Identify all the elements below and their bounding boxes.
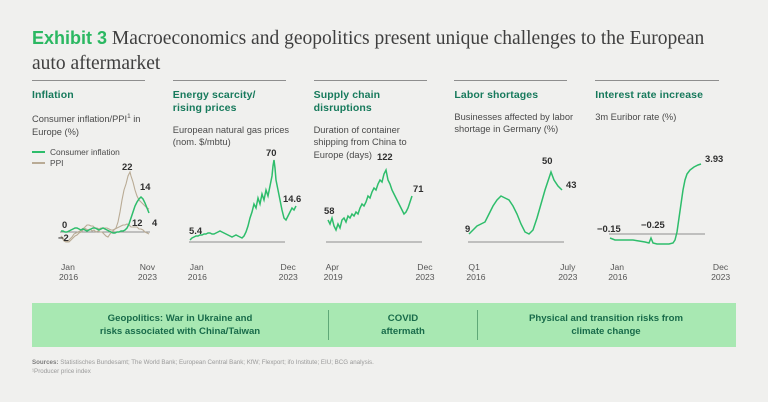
chart-labor-shortages: 9 50 43	[454, 146, 599, 256]
panel-subtitle-main: Consumer inflation/PPI	[32, 114, 127, 124]
panel-rule	[595, 80, 719, 81]
annotation-14: 14	[140, 181, 151, 192]
annotation-5-4: 5.4	[189, 225, 203, 236]
annotation-71: 71	[413, 183, 423, 194]
annotation-50: 50	[542, 155, 552, 166]
panel-labor-shortages: Labor shortages Businesses affected by l…	[454, 80, 595, 290]
x-axis-end-top: Dec	[281, 262, 296, 273]
x-axis-end-bottom: 2023	[711, 272, 730, 283]
banner-line1: COVID	[381, 312, 425, 325]
sources-text: Statistisches Bundesamt; The World Bank;…	[58, 359, 373, 366]
x-axis-start-bottom: 2016	[59, 272, 78, 283]
banner-line2: aftermath	[381, 325, 425, 338]
banner-line1: Physical and transition risks from	[529, 312, 683, 325]
x-axis-start-top: Jan	[190, 262, 204, 273]
x-axis-start-top: Jan	[610, 262, 624, 273]
annotation-14-6: 14.6	[283, 193, 301, 204]
x-axis-start-top: Q1	[468, 262, 479, 273]
x-axis-end-top: Nov	[140, 262, 155, 273]
annotation-22: 22	[122, 161, 132, 172]
banner-line2: climate change	[529, 325, 683, 338]
shipping-duration-line	[328, 170, 412, 230]
exhibit-label: Exhibit 3	[32, 28, 107, 48]
x-axis: Q1 2016 July 2023	[454, 260, 599, 290]
annotation-4: 4	[152, 217, 158, 228]
panel-title: Inflation	[32, 89, 173, 102]
annotation-12: 12	[132, 217, 142, 228]
x-axis-end-top: July	[560, 262, 575, 273]
panel-subtitle: Businesses affected by labor shortage in…	[454, 111, 574, 136]
x-axis-start-bottom: 2016	[608, 272, 627, 283]
chart-supply-chain: 58 122 71	[314, 146, 459, 256]
x-axis: Jan 2016 Nov 2023	[32, 260, 177, 290]
chart-svg: 9 50 43	[454, 146, 599, 256]
annotation-70: 70	[266, 147, 276, 158]
banner-line1: Geopolitics: War in Ukraine and	[100, 312, 260, 325]
x-axis: Jan 2016 Dec 2023	[595, 260, 740, 290]
x-axis-start-top: Jan	[61, 262, 75, 273]
chart-svg: −0.15 −0.25 3.93	[595, 146, 740, 256]
exhibit-sheet: Exhibit 3 Macroeconomics and geopolitics…	[0, 0, 768, 402]
panel-inflation: Inflation Consumer inflation/PPI1 in Eur…	[32, 80, 173, 290]
x-axis-end-top: Dec	[713, 262, 728, 273]
gas-price-line	[190, 160, 296, 240]
x-axis: Jan 2016 Dec 2023	[173, 260, 318, 290]
panel-rule	[173, 80, 286, 81]
x-axis-start-bottom: 2016	[466, 272, 485, 283]
x-axis-end-bottom: 2023	[138, 272, 157, 283]
sources-line: Sources: Statistisches Bundesamt; The Wo…	[32, 358, 732, 367]
panel-supply-chain: Supply chain disruptions Duration of con…	[314, 80, 455, 290]
labor-shortage-line	[469, 172, 562, 234]
x-axis-end-bottom: 2023	[415, 272, 434, 283]
chart-svg: 58 122 71	[314, 146, 459, 256]
x-axis-start-bottom: 2016	[188, 272, 207, 283]
panel-title: Supply chain disruptions	[314, 89, 455, 115]
panel-interest-rate: Interest rate increase 3m Euribor rate (…	[595, 80, 736, 290]
annotation-minus015: −0.15	[597, 223, 621, 234]
page-title: Exhibit 3 Macroeconomics and geopolitics…	[32, 26, 732, 76]
panel-subtitle: Consumer inflation/PPI1 in Europe (%)	[32, 111, 152, 138]
chart-energy: 5.4 70 14.6	[173, 146, 318, 256]
chart-inflation: 0 −2 22 14 12 4	[32, 146, 177, 256]
chart-svg: 0 −2 22 14 12 4	[32, 146, 177, 256]
panel-title: Interest rate increase	[595, 89, 736, 102]
x-axis-end-bottom: 2023	[558, 272, 577, 283]
banner-line2: risks associated with China/Taiwan	[100, 325, 260, 338]
sources-note: Sources: Statistisches Bundesamt; The Wo…	[32, 358, 732, 376]
panel-rule	[454, 80, 567, 81]
annotation-393: 3.93	[705, 153, 723, 164]
headline-text: Macroeconomics and geopolitics present u…	[32, 28, 704, 74]
chart-svg: 5.4 70 14.6	[173, 146, 318, 256]
annotation-minus025: −0.25	[641, 219, 665, 230]
x-axis-start-top: Apr	[326, 262, 339, 273]
x-axis-end-top: Dec	[417, 262, 432, 273]
panel-title: Energy scarcity/ rising prices	[173, 89, 314, 115]
panel-subtitle: 3m Euribor rate (%)	[595, 111, 715, 123]
panel-title-line1: Supply chain	[314, 89, 455, 102]
annotation-43: 43	[566, 179, 576, 190]
euribor-line	[610, 164, 701, 244]
banner-item-geopolitics: Geopolitics: War in Ukraine and risks as…	[32, 310, 328, 340]
annotation-minus2: −2	[58, 232, 69, 243]
footnote-line: ¹Producer price index	[32, 367, 732, 376]
x-axis: Apr 2019 Dec 2023	[314, 260, 459, 290]
annotation-122: 122	[377, 151, 393, 162]
panel-title-line1: Energy scarcity/	[173, 89, 314, 102]
annotation-9: 9	[465, 223, 470, 234]
panel-title-line2: rising prices	[173, 102, 314, 115]
banner-item-covid: COVID aftermath	[329, 310, 477, 340]
panel-rule	[314, 80, 427, 81]
annotation-58: 58	[324, 205, 334, 216]
banner-item-climate: Physical and transition risks from clima…	[478, 310, 734, 340]
chart-interest-rate: −0.15 −0.25 3.93	[595, 146, 740, 256]
annotation-0: 0	[62, 219, 67, 230]
panel-energy-scarcity: Energy scarcity/ rising prices European …	[173, 80, 314, 290]
x-axis-end-bottom: 2023	[279, 272, 298, 283]
x-axis-start-bottom: 2019	[324, 272, 343, 283]
panel-title-line2: disruptions	[314, 102, 455, 115]
sources-label: Sources:	[32, 359, 58, 366]
panel-row: Inflation Consumer inflation/PPI1 in Eur…	[32, 80, 736, 290]
panel-title: Labor shortages	[454, 89, 595, 102]
panel-rule	[32, 80, 145, 81]
risk-banner: Geopolitics: War in Ukraine and risks as…	[32, 303, 736, 347]
